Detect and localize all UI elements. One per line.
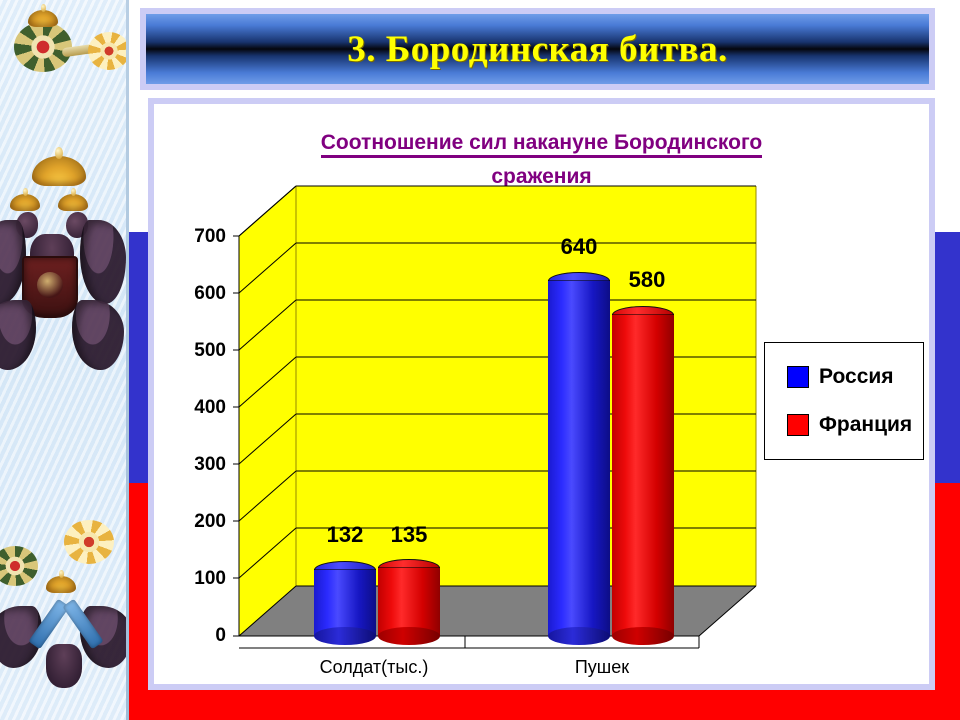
data-label-france-cannons: 580 [612,267,682,293]
y-tick-label-700: 700 [174,226,226,248]
double-headed-eagle [0,150,129,400]
legend-label-france: Франция [819,413,912,437]
title-banner: 3. Бородинская битва. [146,14,929,84]
legend-item-france: Франция [787,413,912,437]
data-label-russia-soldiers: 132 [314,522,376,548]
bar-france-soldiers [378,559,440,636]
data-label-russia-cannons: 640 [544,234,614,260]
border-right-edge [126,0,129,720]
y-tick-label-500: 500 [174,340,226,362]
page-title: 3. Бородинская битва. [347,28,728,71]
content-panel: Соотношение сил накануне Бородинского ср… [154,104,929,684]
y-tick-label-300: 300 [174,454,226,476]
order-of-st-andrew-star [6,520,129,710]
legend-swatch-russia [787,366,809,388]
x-category-label-cannons: Пушек [512,657,692,678]
slide: 3. Бородинская битва. Соотношение сил на… [0,0,960,720]
x-category-label-soldiers: Солдат(тыс.) [284,657,464,678]
imperial-eagle-border [0,0,129,720]
content-panel-frame: Соотношение сил накануне Бородинского ср… [148,98,935,690]
y-tick-label-0: 0 [174,625,226,647]
y-tick-label-400: 400 [174,397,226,419]
legend-item-russia: Россия [787,365,894,389]
chart-legend: Россия Франция [764,342,924,460]
legend-label-russia: Россия [819,365,894,389]
flag-band-bottom-red [162,690,928,720]
bar-france-cannons [612,306,674,636]
title-banner-frame: 3. Бородинская битва. [140,8,935,90]
bar-russia-soldiers [314,561,376,636]
y-tick-label-600: 600 [174,283,226,305]
y-tick-label-100: 100 [174,568,226,590]
y-tick-label-200: 200 [174,511,226,533]
data-label-france-soldiers: 135 [378,522,440,548]
bar-chart: 700 600 500 400 300 200 100 0 [154,104,929,684]
legend-swatch-france [787,414,809,436]
bar-russia-cannons [548,272,610,636]
